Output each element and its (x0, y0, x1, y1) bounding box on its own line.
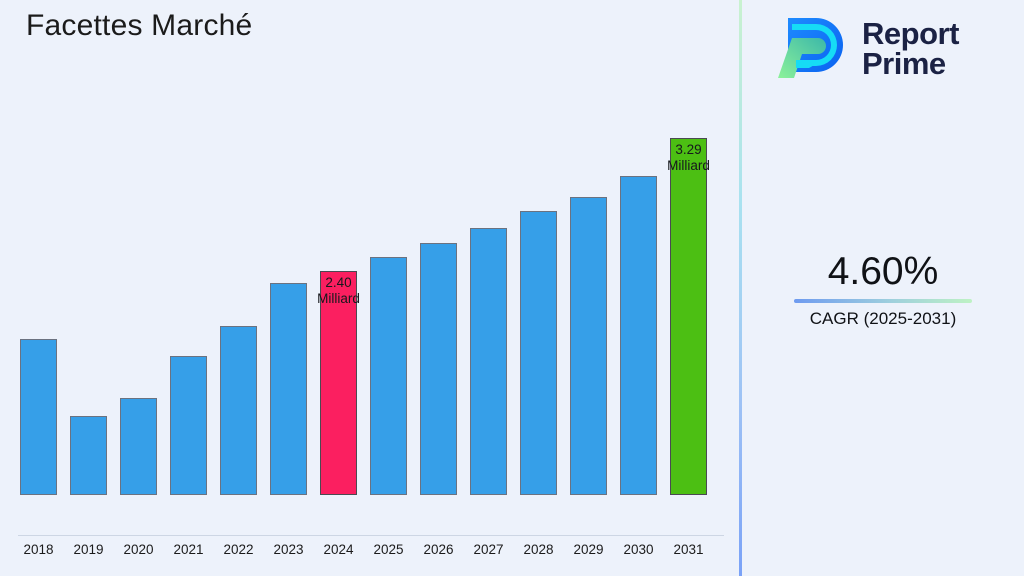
x-tick-2021: 2021 (161, 542, 217, 557)
x-axis-line (18, 535, 724, 536)
x-tick-2031: 2031 (661, 542, 717, 557)
report-prime-logo-icon (772, 12, 850, 86)
cagr-value: 4.60% (742, 252, 1024, 293)
brand-panel: Report Prime 4.60% CAGR (2025-2031) (742, 0, 1024, 576)
brand-lockup: Report Prime (772, 12, 959, 86)
x-tick-2028: 2028 (511, 542, 567, 557)
bar-2019 (70, 416, 107, 495)
x-tick-2030: 2030 (611, 542, 667, 557)
x-tick-2022: 2022 (211, 542, 267, 557)
bar-2028 (520, 211, 557, 495)
bar-value-label-2031: 3.29 Milliard (644, 142, 734, 174)
x-tick-2023: 2023 (261, 542, 317, 557)
bar-2026 (420, 243, 457, 495)
x-tick-2024: 2024 (311, 542, 367, 557)
x-tick-2029: 2029 (561, 542, 617, 557)
bar-2018 (20, 339, 57, 495)
bar-2023 (270, 283, 307, 495)
cagr-block: 4.60% CAGR (2025-2031) (742, 252, 1024, 329)
brand-name-line-2: Prime (862, 49, 959, 79)
bar-chart-plot: 2.40 Milliard3.29 Milliard (0, 0, 740, 536)
bar-value-label-2024: 2.40 Milliard (294, 275, 384, 307)
bar-2021 (170, 356, 207, 495)
x-tick-2019: 2019 (61, 542, 117, 557)
bar-2029 (570, 197, 607, 495)
brand-name: Report Prime (862, 19, 959, 80)
bar-2020 (120, 398, 157, 495)
x-tick-2026: 2026 (411, 542, 467, 557)
bar-2027 (470, 228, 507, 495)
chart-panel: Facettes Marché 2.40 Milliard3.29 Millia… (0, 0, 740, 576)
x-tick-2027: 2027 (461, 542, 517, 557)
x-tick-2020: 2020 (111, 542, 167, 557)
bar-2031 (670, 138, 707, 495)
bar-2022 (220, 326, 257, 495)
x-tick-2018: 2018 (11, 542, 67, 557)
brand-name-line-1: Report (862, 19, 959, 49)
x-tick-2025: 2025 (361, 542, 417, 557)
cagr-divider-rule (794, 299, 972, 303)
cagr-caption: CAGR (2025-2031) (742, 309, 1024, 329)
bar-2030 (620, 176, 657, 495)
